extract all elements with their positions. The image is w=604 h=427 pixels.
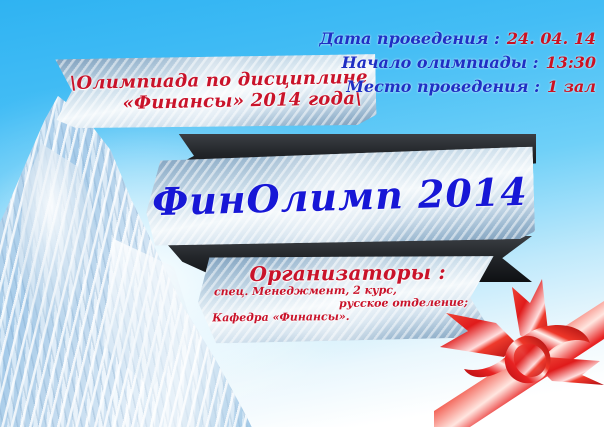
info-label-date: Дата проведения : [319, 28, 499, 50]
main-title-banner: ФинОлимп 2014 [145, 147, 535, 250]
info-row-start-time: Начало олимпиады : 13:30 [342, 52, 596, 74]
info-value-start-time: 13:30 [546, 52, 596, 74]
organizers-title: Организаторы : [249, 261, 446, 285]
ribbon-bow-decoration [434, 265, 604, 427]
info-value-venue: 1 зал [547, 76, 596, 98]
info-label-venue: Место проведения : [346, 76, 540, 98]
organizers-line-3: Кафедра «Финансы». [212, 310, 350, 324]
main-title-text-group: ФинОлимп 2014 [145, 147, 535, 250]
info-row-venue: Место проведения : 1 зал [346, 76, 596, 98]
main-title: ФинОлимп 2014 [152, 171, 529, 223]
poster-canvas: \Олимпиада по дисциплине «Финансы» 2014 … [0, 0, 604, 427]
bow-tail-left [440, 313, 516, 357]
event-info-block: Дата проведения : 24. 04. 14 Начало олим… [319, 28, 596, 98]
info-label-start-time: Начало олимпиады : [342, 52, 539, 74]
info-row-date: Дата проведения : 24. 04. 14 [319, 28, 596, 50]
info-value-date: 24. 04. 14 [507, 28, 596, 50]
